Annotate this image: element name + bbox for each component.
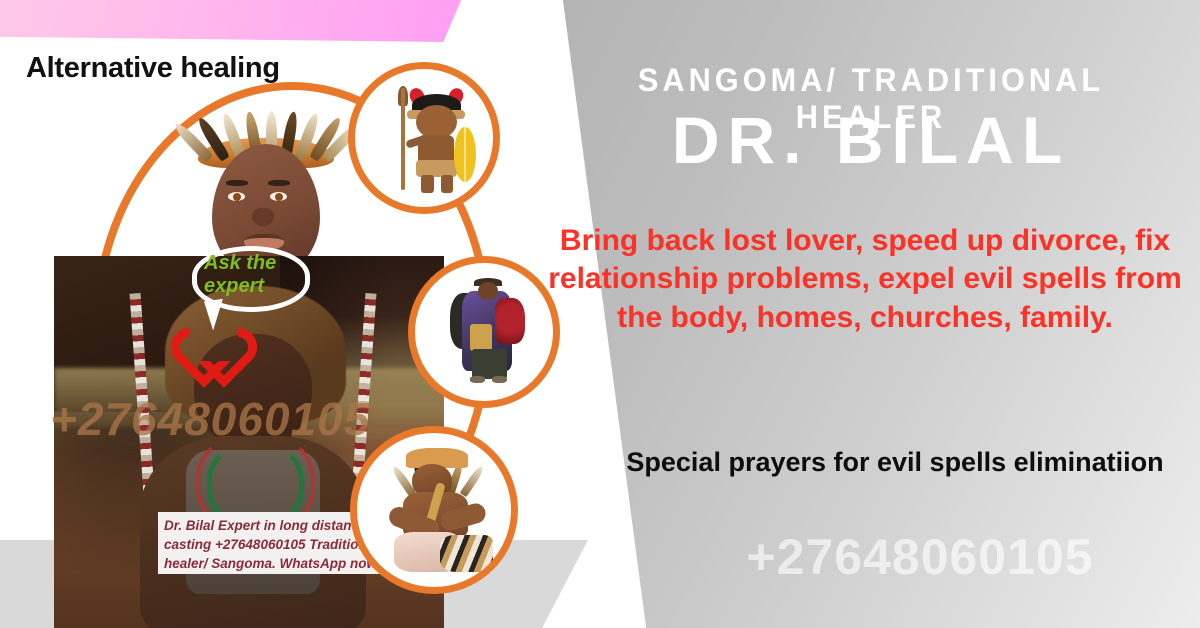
healer-fur-skirt [440,535,492,572]
warrior-head [416,105,457,140]
warrior-shield-icon [454,127,476,182]
diviner-tan-bag [470,324,492,352]
speech-bubble-label: Ask the expert [204,252,308,298]
circle-badge-kneeling-healer [350,426,518,594]
diviner-legs [472,349,508,379]
figure-brow-right [268,180,290,186]
page-title: Alternative healing [26,52,280,85]
circle-badge-cloaked-diviner [408,256,560,408]
healer-name-title: DR. BILAL [566,106,1176,175]
pink-accent-bar [0,0,462,42]
warrior-skirt [416,160,457,177]
figure-eye-left [228,192,245,201]
services-text: Bring back lost lover, speed up divorce,… [540,222,1190,337]
prayers-text: Special prayers for evil spells eliminat… [600,445,1190,480]
figure-brow-left [226,180,248,186]
spear-icon [401,88,405,190]
circle-badge-zulu-warrior [348,62,500,214]
warrior-leg-left [421,175,433,193]
warrior-leg-right [441,175,453,193]
diviner-red-shield [495,298,525,345]
poster-canvas: Alternative healing [0,0,1200,628]
red-heart-overlay [186,330,258,396]
contact-phone-number[interactable]: +27648060105 [640,528,1200,586]
diviner-head [478,282,497,300]
diviner-shoe-left [470,376,485,383]
diviner-shoe-right [492,376,507,383]
figure-nose [252,208,274,226]
photo-watermark-phone: +27648060105 [50,392,370,446]
figure-eye-right [270,192,287,201]
